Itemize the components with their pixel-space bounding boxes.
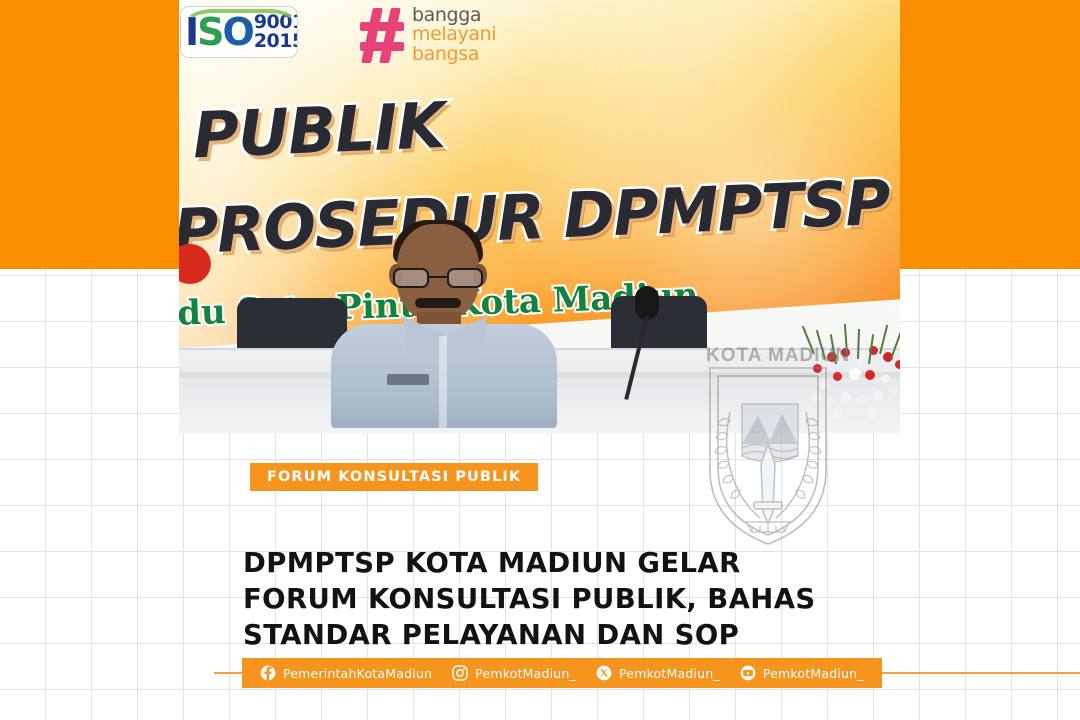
- social-item-instagram[interactable]: PemkotMadiun_: [452, 665, 576, 681]
- iso-certification-badge: ISO 9001 2015: [180, 6, 298, 58]
- facebook-handle: PemerintahKotaMadiun: [283, 666, 432, 681]
- social-item-x-twitter[interactable]: PemkotMadiun_: [596, 665, 720, 681]
- orange-block-left: [0, 0, 179, 269]
- youtube-icon: [740, 665, 756, 681]
- flower-arrangement: [803, 322, 900, 428]
- bangga-hash-mark-icon: [359, 6, 405, 64]
- microphone-head: [635, 286, 659, 320]
- instagram-handle: PemkotMadiun_: [475, 666, 576, 681]
- orange-block-right: [900, 0, 1080, 269]
- man-mustache: [415, 298, 461, 308]
- social-media-bar: PemerintahKotaMadiun PemkotMadiun_ Pemko…: [242, 658, 882, 688]
- category-badge: FORUM KONSULTASI PUBLIK: [250, 463, 538, 491]
- microphone: [619, 286, 689, 406]
- bangga-logo-text: bangga melayani bangsa: [412, 6, 496, 64]
- man-name-tag: [387, 374, 429, 385]
- social-item-youtube[interactable]: PemkotMadiun_: [740, 665, 864, 681]
- social-item-facebook[interactable]: PemerintahKotaMadiun: [260, 665, 432, 681]
- man-glasses: [391, 268, 485, 288]
- facebook-icon: [260, 665, 276, 681]
- banner-headline-line-1: SI PUBLIK: [179, 89, 446, 176]
- bangga-line-2: melayani: [412, 25, 496, 44]
- news-photo: ISO 9001 2015 bangga melayani bangsa SI …: [179, 0, 900, 433]
- speaker-man: [335, 224, 553, 404]
- man-shirt-placket: [439, 336, 447, 428]
- x-twitter-handle: PemkotMadiun_: [619, 666, 720, 681]
- iso-arc-decoration: [185, 9, 297, 39]
- bangga-line-3: bangsa: [412, 45, 496, 64]
- instagram-icon: [452, 665, 468, 681]
- microphone-stem: [624, 316, 649, 400]
- bangga-melayani-bangsa-logo: bangga melayani bangsa: [359, 6, 496, 64]
- x-twitter-icon: [596, 665, 612, 681]
- youtube-handle: PemkotMadiun_: [763, 666, 864, 681]
